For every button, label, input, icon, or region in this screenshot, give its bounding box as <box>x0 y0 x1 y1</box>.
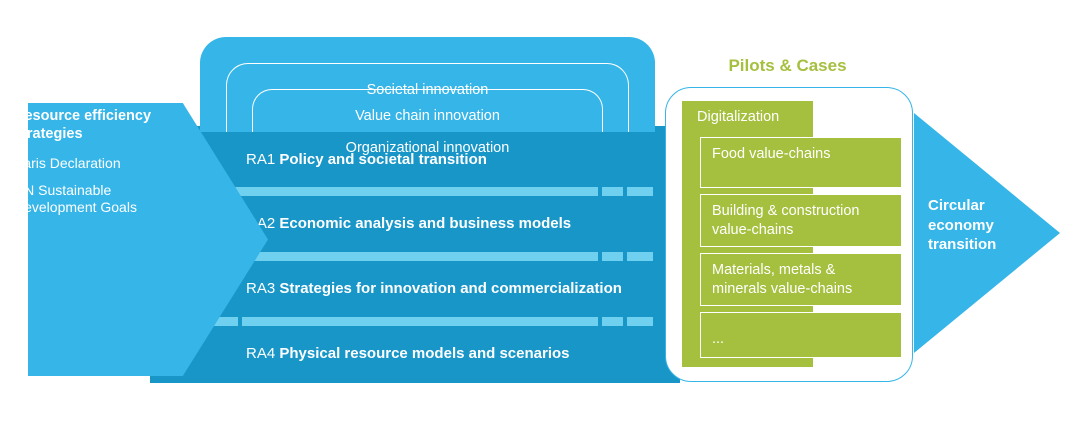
divider-segment <box>627 187 653 196</box>
research-area-row-ra4: RA4 Physical resource models and scenari… <box>246 345 570 362</box>
innovation-layer-label-value-chain: Value chain innovation <box>200 108 655 124</box>
research-area-id-ra4: RA4 <box>246 345 279 362</box>
digitalization-label: Digitalization <box>697 109 779 125</box>
divider-segment <box>242 317 598 326</box>
research-area-divider-2 <box>204 252 653 261</box>
innovation-layers-group: Societal innovation Value chain innovati… <box>200 37 655 132</box>
divider-segment <box>602 252 623 261</box>
divider-segment <box>602 317 623 326</box>
research-area-title-ra4: Physical resource models and scenarios <box>279 345 569 362</box>
diagram-canvas: Societal innovation Value chain innovati… <box>0 0 1080 422</box>
pilot-box-building-construction: Building & construction value-chains <box>700 194 902 247</box>
resource-efficiency-heading: Resource efficiency strategies <box>14 108 184 143</box>
pilot-box-more: ... <box>700 312 902 358</box>
divider-segment <box>230 187 598 196</box>
pilot-box-materials-metals-minerals: Materials, metals & minerals value-chain… <box>700 253 902 306</box>
research-area-title-ra2: Economic analysis and business models <box>279 215 571 232</box>
pilots-and-cases-title: Pilots & Cases <box>655 56 920 76</box>
research-area-title-ra3: Strategies for innovation and commercial… <box>279 280 622 297</box>
un-sustainable-goals-item: UN Sustainable Development Goals <box>14 182 184 216</box>
divider-segment <box>236 252 598 261</box>
pilot-box-food-value-chains: Food value-chains <box>700 137 902 188</box>
research-area-row-ra3: RA3 Strategies for innovation and commer… <box>246 280 622 297</box>
paris-declaration-item: Paris Declaration <box>14 155 184 172</box>
research-area-title-ra1: Policy and societal transition <box>279 151 487 168</box>
research-area-divider-1 <box>198 187 653 196</box>
divider-segment <box>627 252 653 261</box>
research-area-id-ra3: RA3 <box>246 280 279 297</box>
circular-economy-transition-label: Circular economy transition <box>928 196 1032 255</box>
research-area-divider-3 <box>210 317 653 326</box>
innovation-layer-label-societal: Societal innovation <box>200 82 655 98</box>
research-area-id-ra1: RA1 <box>246 151 279 168</box>
research-area-row-ra2: RA2 Economic analysis and business model… <box>246 215 571 232</box>
innovation-clusters-heading: Innovation clusters <box>14 62 184 80</box>
divider-segment <box>602 187 623 196</box>
divider-segment <box>627 317 653 326</box>
research-area-row-ra1: RA1 Policy and societal transition <box>246 151 487 168</box>
